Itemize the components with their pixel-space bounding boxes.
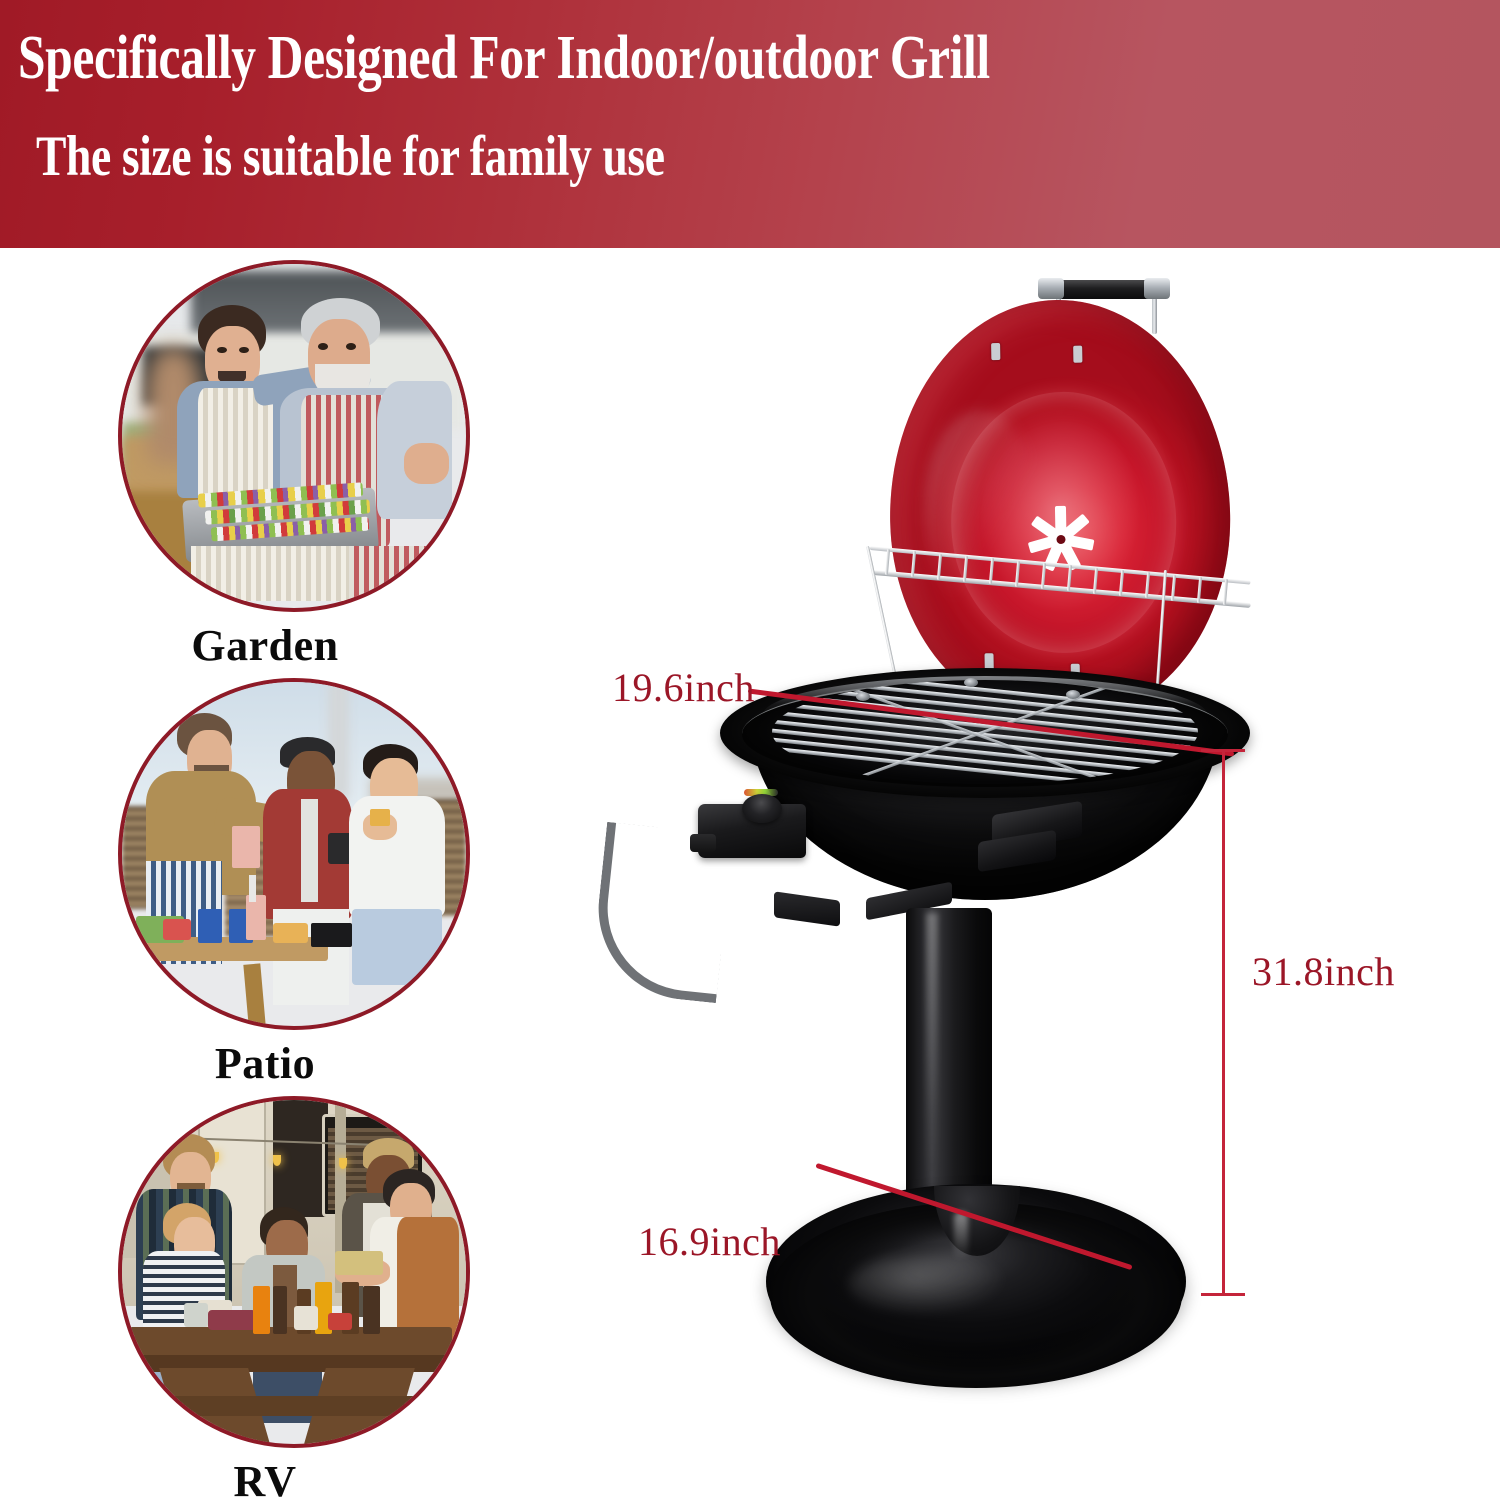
temperature-knob[interactable] <box>742 794 782 823</box>
banner-subtitle: The size is suitable for family use <box>36 128 665 185</box>
power-cord <box>590 822 734 1003</box>
grill-lid[interactable] <box>886 297 1233 723</box>
height-measure-cap-bottom <box>1201 1293 1245 1296</box>
base-gloss <box>848 1254 1008 1316</box>
scene-rv: RV <box>0 1084 530 1482</box>
lid-handle-cap-right <box>1144 278 1170 299</box>
base-assembly <box>766 1158 1186 1408</box>
warming-rack[interactable] <box>870 540 1270 600</box>
rv-photo-content <box>122 1100 466 1444</box>
width-measure-label: 19.6inch <box>612 664 755 711</box>
scene-patio-photo <box>118 678 470 1030</box>
scene-rv-photo <box>118 1096 470 1448</box>
scene-garden-photo <box>118 260 470 612</box>
lid-clip-top-right <box>1073 346 1082 363</box>
header-banner: Specifically Designed For Indoor/outdoor… <box>0 0 1500 248</box>
scene-garden: Garden <box>0 248 530 678</box>
banner-title: Specifically Designed For Indoor/outdoor… <box>18 27 990 89</box>
base-measure-label: 16.9inch <box>638 1218 781 1265</box>
height-measure-cap-top <box>1201 749 1245 752</box>
use-case-scenes: Garden <box>0 248 530 1482</box>
rim-screw-right <box>1066 690 1080 699</box>
grill-lid-assembly <box>890 278 1230 698</box>
cooking-grate[interactable] <box>772 680 1198 784</box>
scene-garden-caption: Garden <box>0 620 530 671</box>
rim-screw-left <box>856 692 870 701</box>
product-illustration: 19.6inch 16.9inch 31.8inch <box>530 248 1500 1482</box>
garden-photo-content <box>122 264 466 608</box>
lid-handle-cap-left <box>1038 278 1064 299</box>
height-measure-line <box>1222 750 1225 1295</box>
height-measure-label: 31.8inch <box>1252 948 1395 995</box>
patio-photo-content <box>122 682 466 1026</box>
base-neck-highlight <box>954 1212 968 1260</box>
lid-clip-top-left <box>991 343 1000 360</box>
rim-screw-center <box>964 678 978 687</box>
scene-patio: Patio <box>0 666 530 1096</box>
scene-patio-caption: Patio <box>0 1038 530 1089</box>
